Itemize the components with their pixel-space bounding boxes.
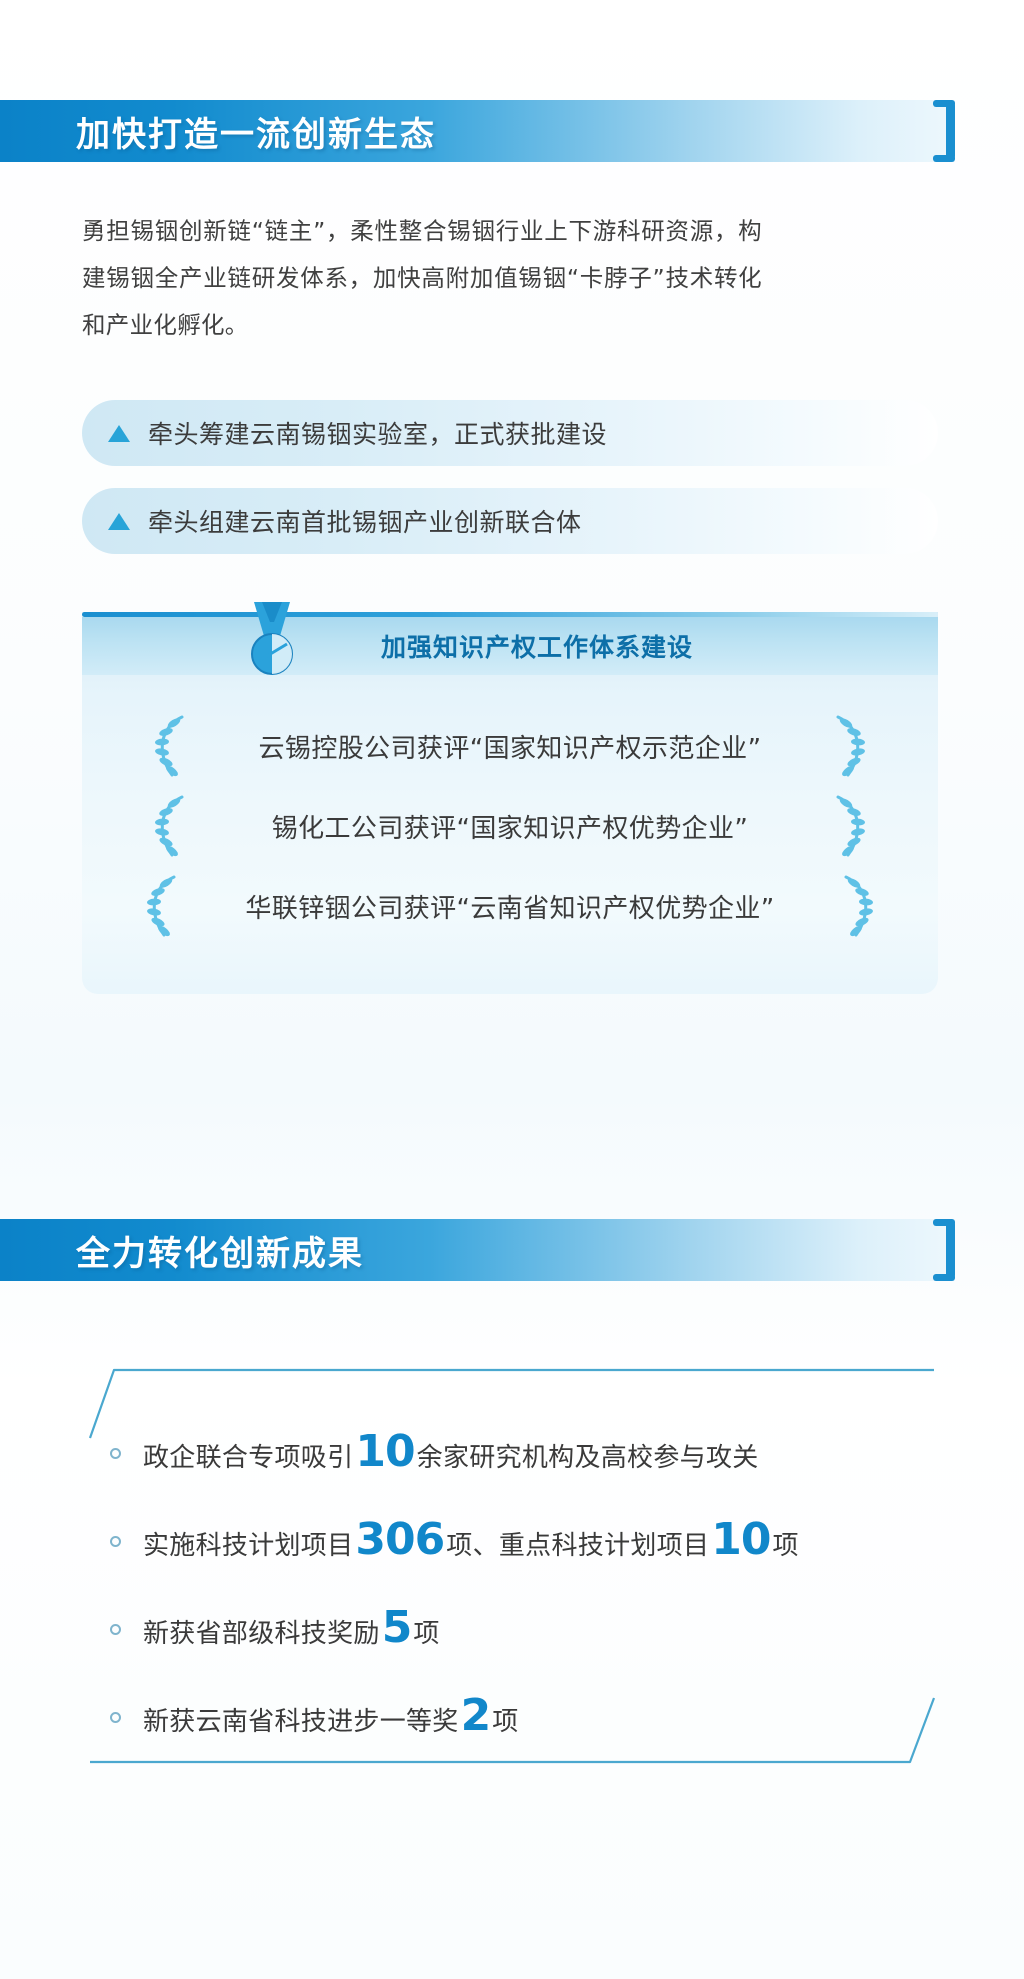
award-label: 锡化工公司获评“国家知识产权优势企业” — [82, 808, 938, 845]
infographic-page: 加快打造一流创新生态 勇担锡铟创新链“链主”，柔性整合锡铟行业上下游科研资源，构… — [0, 0, 1024, 1979]
banner-bracket-icon — [933, 1219, 955, 1281]
award-row: 锡化工公司获评“国家知识产权优势企业” — [82, 788, 938, 864]
result-text-part: 项、重点科技计划项目 — [446, 1525, 709, 1562]
banner-bar: 加快打造一流创新生态 — [0, 100, 955, 162]
result-text-part: 余家研究机构及高校参与攻关 — [417, 1437, 759, 1474]
circle-bullet-icon — [110, 1712, 121, 1723]
results-bracket-box: 政企联合专项吸引 10 余家研究机构及高校参与攻关 实施科技计划项目 306 项… — [88, 1368, 936, 1764]
circle-bullet-icon — [110, 1448, 121, 1459]
award-row: 云锡控股公司获评“国家知识产权示范企业” — [82, 708, 938, 784]
section-title: 全力转化创新成果 — [76, 1226, 364, 1275]
result-number: 2 — [459, 1694, 493, 1738]
result-item: 实施科技计划项目 306 项、重点科技计划项目 10 项 — [110, 1518, 958, 1562]
result-number: 10 — [709, 1518, 772, 1562]
ip-card-title: 加强知识产权工作体系建设 — [381, 628, 693, 664]
result-item: 政企联合专项吸引 10 余家研究机构及高校参与攻关 — [110, 1430, 958, 1474]
result-item: 新获云南省科技进步一等奖 2 项 — [110, 1694, 958, 1738]
section-banner-innovation-results: 全力转化创新成果 — [0, 1219, 955, 1281]
result-text-part: 项 — [413, 1613, 439, 1650]
result-text-part: 实施科技计划项目 — [143, 1525, 353, 1562]
result-text-part: 政企联合专项吸引 — [143, 1437, 353, 1474]
section-banner-innovation-ecosystem: 加快打造一流创新生态 — [0, 100, 955, 162]
triangle-bullet-icon — [108, 425, 130, 442]
result-number: 306 — [353, 1518, 446, 1562]
ip-card: 加强知识产权工作体系建设 — [82, 612, 938, 994]
medal-icon — [244, 600, 300, 684]
highlight-pill-1[interactable]: 牵头筹建云南锡铟实验室，正式获批建设 — [82, 400, 938, 466]
intro-paragraph: 勇担锡铟创新链“链主”，柔性整合锡铟行业上下游科研资源，构建锡铟全产业链研发体系… — [82, 208, 762, 349]
result-text-part: 项 — [773, 1525, 799, 1562]
highlight-pill-2-label: 牵头组建云南首批锡铟产业创新联合体 — [148, 503, 582, 539]
circle-bullet-icon — [110, 1536, 121, 1547]
ip-card-header: 加强知识产权工作体系建设 — [82, 617, 938, 675]
award-label: 华联锌铟公司获评“云南省知识产权优势企业” — [82, 888, 938, 925]
result-text-part: 新获云南省科技进步一等奖 — [143, 1701, 459, 1738]
section-title: 加快打造一流创新生态 — [76, 107, 436, 156]
highlight-pill-1-label: 牵头筹建云南锡铟实验室，正式获批建设 — [148, 415, 607, 451]
banner-bar: 全力转化创新成果 — [0, 1219, 955, 1281]
banner-bracket-icon — [933, 100, 955, 162]
award-row: 华联锌铟公司获评“云南省知识产权优势企业” — [82, 868, 938, 944]
award-label: 云锡控股公司获评“国家知识产权示范企业” — [82, 728, 938, 765]
result-item: 新获省部级科技奖励 5 项 — [110, 1606, 958, 1650]
result-number: 5 — [380, 1606, 414, 1650]
highlight-pill-2[interactable]: 牵头组建云南首批锡铟产业创新联合体 — [82, 488, 938, 554]
result-text-part: 新获省部级科技奖励 — [143, 1613, 380, 1650]
result-number: 10 — [353, 1430, 416, 1474]
result-text-part: 项 — [492, 1701, 518, 1738]
circle-bullet-icon — [110, 1624, 121, 1635]
triangle-bullet-icon — [108, 513, 130, 530]
